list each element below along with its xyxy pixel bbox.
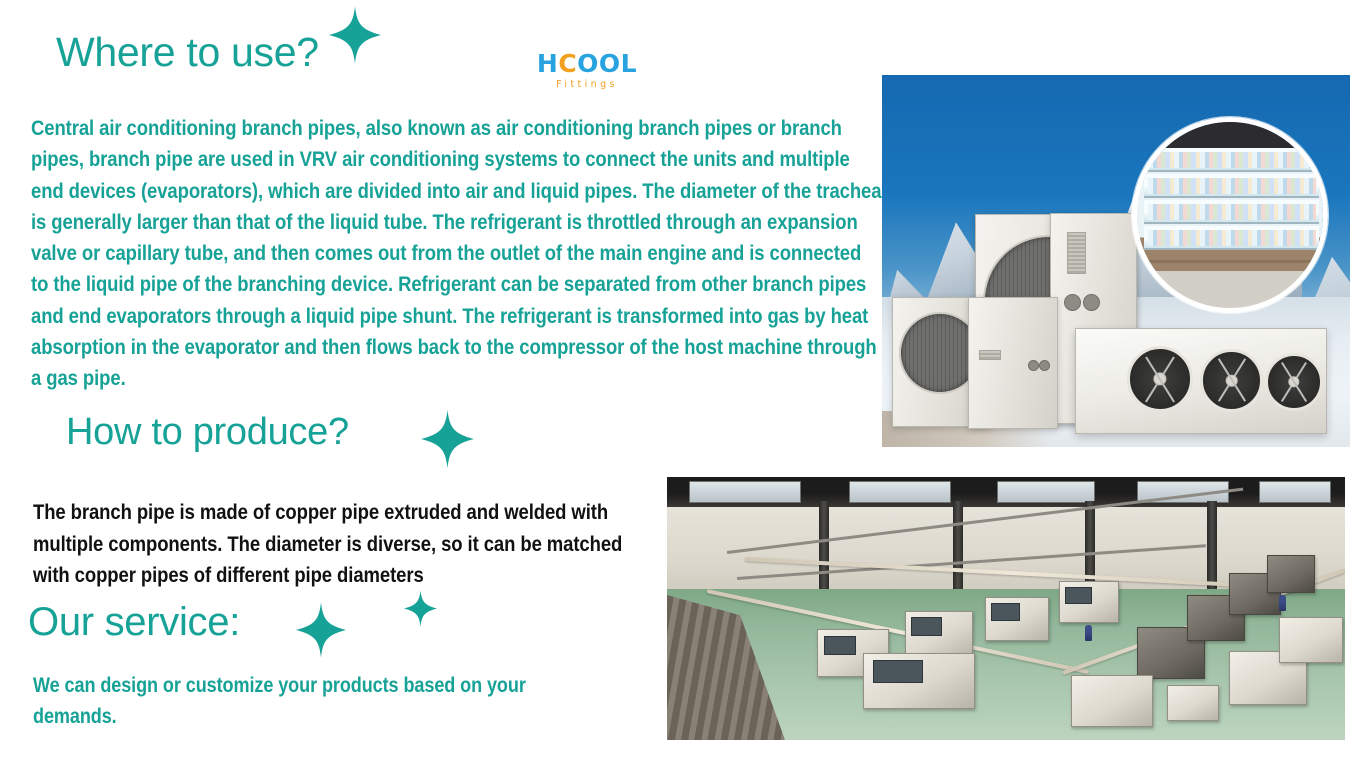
machine-control-panel [991,603,1020,621]
cnc-machine [985,597,1049,641]
shelf-products [1148,230,1316,246]
refrigeration-equipment-photo [882,75,1350,447]
display-shelf [1144,148,1319,172]
aisle-edge [1137,260,1323,263]
section-title-how-to-produce: How to produce? [66,413,349,451]
cnc-machine [1071,675,1153,727]
evaporator-fan [1265,353,1323,411]
display-shelf [1144,226,1319,250]
unit-vent [1067,232,1086,274]
paragraph-how-to-produce: The branch pipe is made of copper pipe e… [33,497,635,592]
brand-logo-wordmark: HCOOL [531,51,643,77]
cnc-machine [905,611,973,657]
cnc-machine [1059,581,1119,623]
cnc-machine [1279,617,1343,663]
sparkle-icon [329,6,381,64]
section-title-our-service: Our service: [28,602,240,642]
display-shelf [1144,200,1319,224]
unit-knob [1028,360,1039,371]
condensing-unit-small-side [968,297,1058,429]
shelf-products [1148,178,1316,194]
machine-housing [1267,555,1315,593]
supermarket-display-inset [1132,117,1328,313]
unit-knob [1039,360,1050,371]
brand-logo-letter-c: C [558,49,577,78]
worker [1279,595,1286,611]
evaporator-fan [1200,349,1263,412]
sparkle-icon [296,602,346,658]
machine-control-panel [824,636,857,655]
shelf-products [1148,152,1316,168]
sparkle-icon [421,410,474,468]
shelf-products [1148,204,1316,220]
unit-knob [1064,294,1081,311]
sparkle-icon [404,590,437,627]
machine-control-panel [911,617,942,636]
display-shelf [1144,174,1319,198]
unit-vent [979,350,1001,360]
machine-control-panel [1065,587,1093,604]
brand-logo-letters-ool: OOL [577,49,637,78]
fan-hub [1153,372,1166,385]
fan-hub [1288,376,1299,387]
cnc-machine [863,653,975,709]
brand-logo-tagline: Fittings [531,78,643,92]
worker [1085,625,1092,641]
brand-logo: HCOOL Fittings [531,51,643,95]
page-title-where-to-use: Where to use? [56,32,319,73]
paragraph-where-to-use: Central air conditioning branch pipes, a… [31,113,882,395]
brand-logo-letter-h: H [537,49,558,78]
slide-page: Where to use? How to produce? Our servic… [0,0,1366,768]
fan-hub [1225,374,1238,387]
clerestory-window [689,481,801,503]
clerestory-window [997,481,1095,503]
paragraph-our-service: We can design or customize your products… [33,670,601,732]
machine-control-panel [873,660,923,683]
cnc-machine [1167,685,1219,721]
evaporator-fan [1127,346,1193,412]
unit-knob [1083,294,1100,311]
factory-workshop-photo [667,477,1345,740]
clerestory-window [1259,481,1331,503]
clerestory-window [849,481,951,503]
